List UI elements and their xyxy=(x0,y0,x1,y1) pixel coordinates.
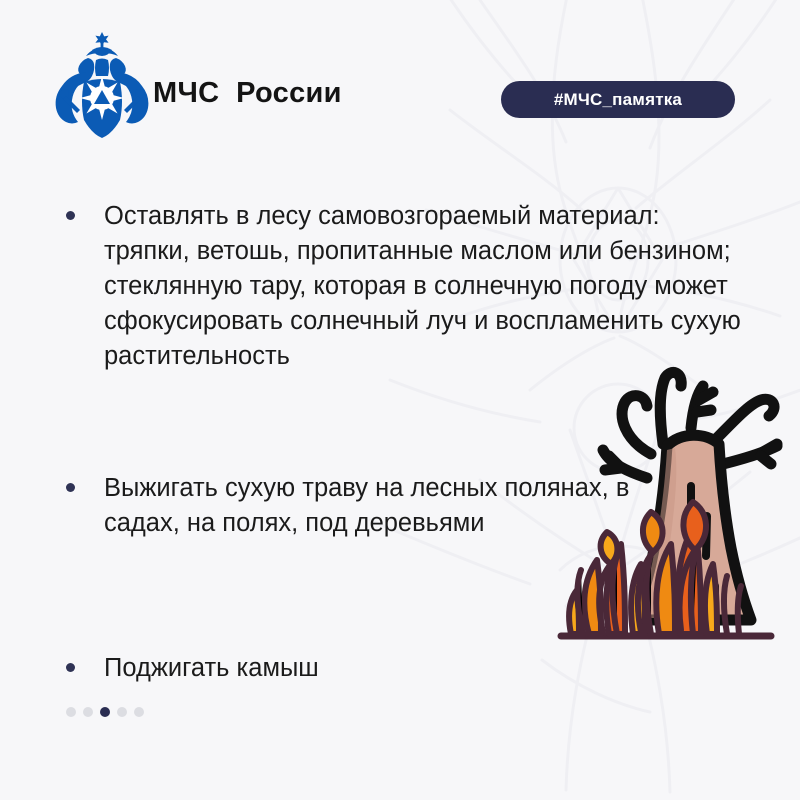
pagination-dot-3[interactable] xyxy=(100,707,110,717)
pagination-dot-4[interactable] xyxy=(117,707,127,717)
bullet-dot-icon xyxy=(66,211,75,220)
bullet-dot-icon xyxy=(66,483,75,492)
list-item-text: Поджигать камыш xyxy=(104,651,319,686)
pagination-dot-5[interactable] xyxy=(134,707,144,717)
list-item-text: Выжигать сухую траву на лесных полянах, … xyxy=(104,471,666,541)
warning-bullet-list: Оставлять в лесу самовозгораемый материа… xyxy=(0,0,800,800)
list-item: Поджигать камыш xyxy=(66,651,586,686)
bullet-dot-icon xyxy=(66,663,75,672)
list-item: Оставлять в лесу самовозгораемый материа… xyxy=(66,199,746,374)
infographic-page: МЧС России #МЧС_памятка Оставлять в лесу… xyxy=(0,0,800,800)
list-item-text: Оставлять в лесу самовозгораемый материа… xyxy=(104,199,746,374)
pagination-dot-2[interactable] xyxy=(83,707,93,717)
pagination-dot-1[interactable] xyxy=(66,707,76,717)
pagination-dots[interactable] xyxy=(66,707,144,717)
list-item: Выжигать сухую траву на лесных полянах, … xyxy=(66,471,666,541)
